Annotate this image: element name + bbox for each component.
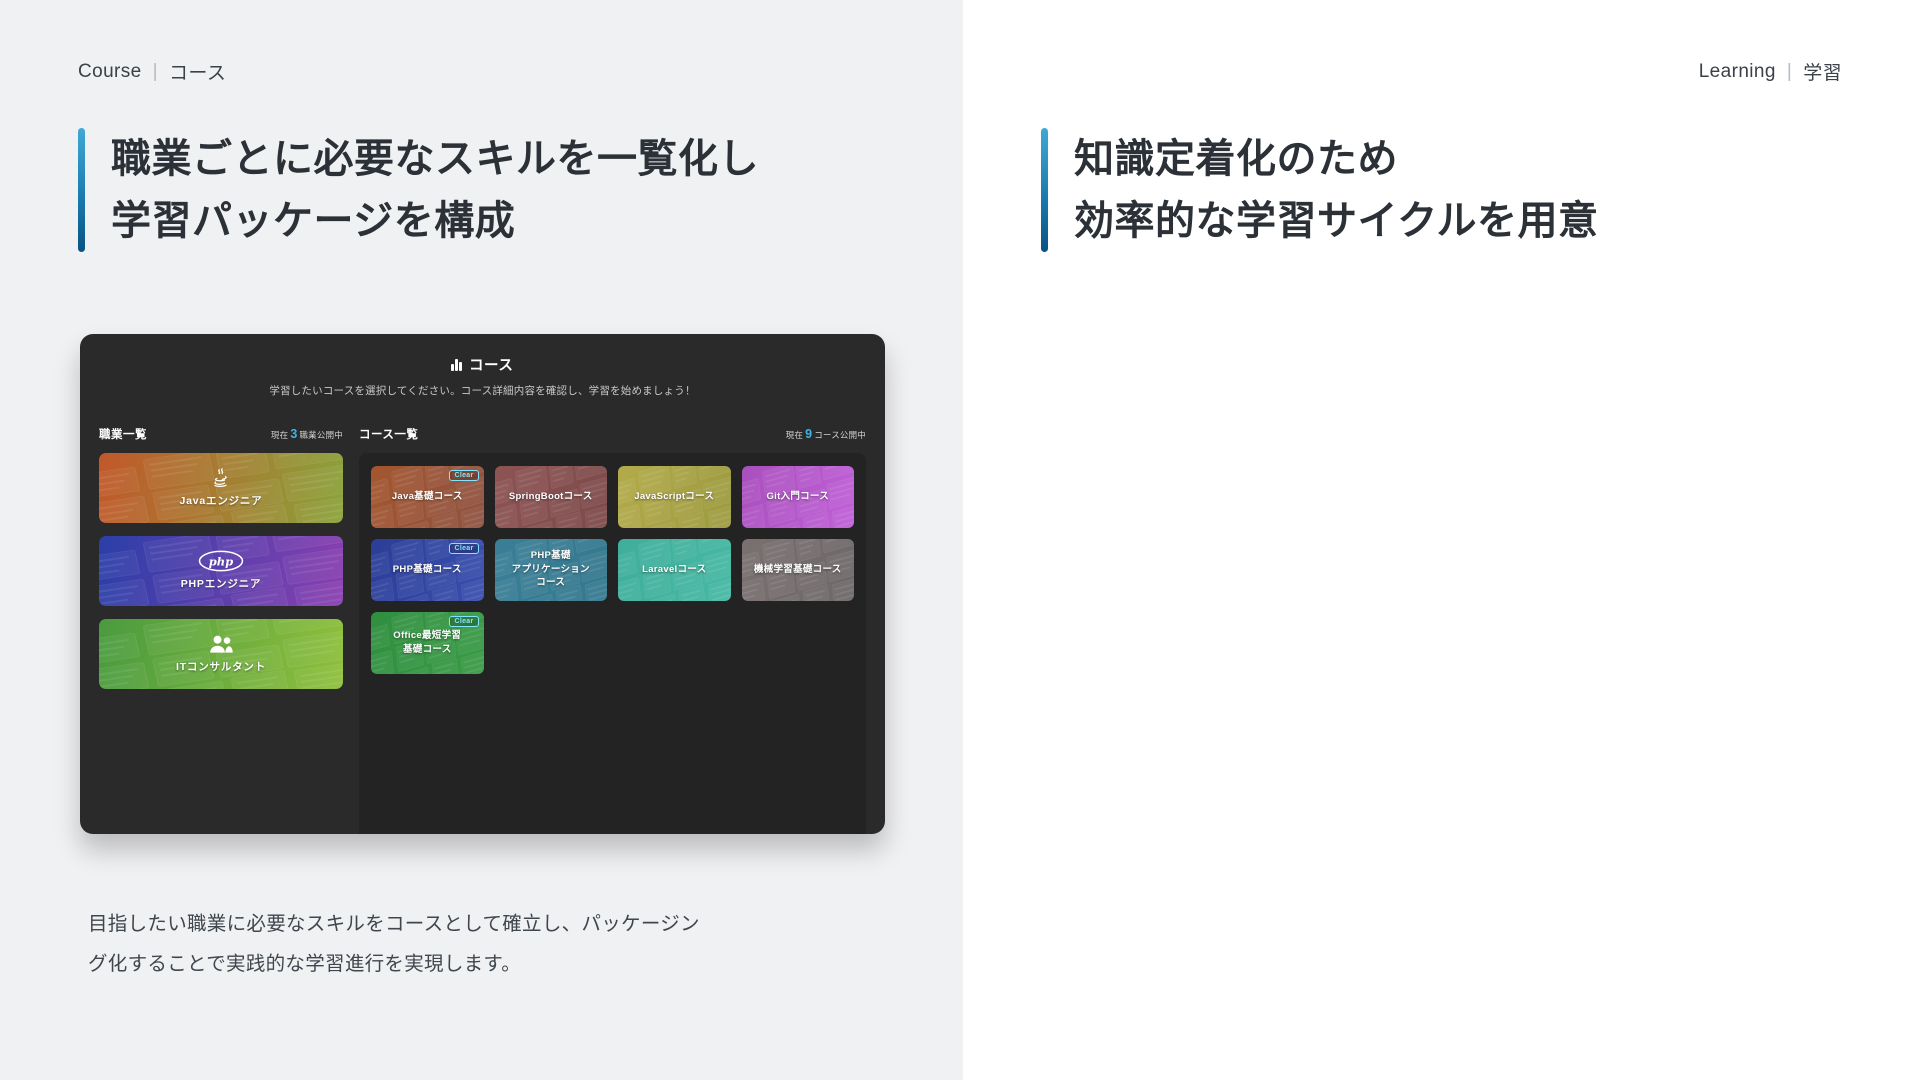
course-card-label: PHP基礎コース xyxy=(393,563,462,577)
php-icon: php xyxy=(198,550,244,572)
jobs-column-header: 職業一覧 現在3職業公開中 xyxy=(99,426,343,442)
left-headline-block: 職業ごとに必要なスキルを一覧化し 学習パッケージを構成 xyxy=(78,128,885,252)
clear-badge: Clear xyxy=(449,543,478,554)
course-card[interactable]: JavaScriptコース xyxy=(618,466,731,528)
left-eyebrow: Course | コース xyxy=(78,0,885,85)
clear-badge: Clear xyxy=(449,616,478,627)
right-headline-block: 知識定着化のため 効率的な学習サイクルを用意 xyxy=(1041,128,1842,252)
courses-count-prefix: 現在 xyxy=(786,430,803,440)
course-card[interactable]: 機械学習基礎コース xyxy=(742,539,855,601)
jobs-count-prefix: 現在 xyxy=(271,430,288,440)
courses-count-value: 9 xyxy=(803,427,814,441)
right-panel: Learning | 学習 知識定着化のため 効率的な学習サイクルを用意 xyxy=(963,0,1920,1080)
app-title: コース xyxy=(469,354,514,375)
course-card-label: Java基礎コース xyxy=(392,490,463,504)
left-caption: 目指したい職業に必要なスキルをコースとして確立し、パッケージン グ化することで実… xyxy=(88,905,700,985)
jobs-heading: 職業一覧 xyxy=(99,426,147,442)
course-card[interactable]: PHP基礎アプリケーションコース xyxy=(495,539,608,601)
right-eyebrow-separator: | xyxy=(1787,61,1792,83)
right-accent-bar xyxy=(1041,128,1048,252)
job-card-label: Javaエンジニア xyxy=(179,493,262,508)
course-card[interactable]: Laravelコース xyxy=(618,539,731,601)
course-card-label: 機械学習基礎コース xyxy=(754,563,842,577)
right-headline-line2: 効率的な学習サイクルを用意 xyxy=(1074,190,1599,252)
left-eyebrow-separator: | xyxy=(153,61,158,83)
clear-badge: Clear xyxy=(449,470,478,481)
slide: Course | コース 職業ごとに必要なスキルを一覧化し 学習パッケージを構成… xyxy=(0,0,1920,1080)
course-card[interactable]: ClearOffice最短学習基礎コース xyxy=(371,612,484,674)
left-headline: 職業ごとに必要なスキルを一覧化し 学習パッケージを構成 xyxy=(111,128,759,252)
jobs-count-suffix: 職業公開中 xyxy=(299,430,343,440)
app-header: コース 学習したいコースを選択してください。コース詳細内容を確認し、学習を始めま… xyxy=(80,334,885,412)
jobs-count: 現在3職業公開中 xyxy=(271,427,343,441)
right-eyebrow: Learning | 学習 xyxy=(1041,0,1842,85)
left-caption-line2: グ化することで実践的な学習進行を実現します。 xyxy=(88,945,700,985)
course-card-label: Laravelコース xyxy=(642,563,706,577)
right-headline: 知識定着化のため 効率的な学習サイクルを用意 xyxy=(1074,128,1599,252)
left-accent-bar xyxy=(78,128,85,252)
course-app-screenshot[interactable]: コース 学習したいコースを選択してください。コース詳細内容を確認し、学習を始めま… xyxy=(80,334,885,834)
courses-grid: ClearJava基礎コースSpringBootコースJavaScriptコース… xyxy=(371,466,854,674)
job-card[interactable]: phpPHPエンジニア xyxy=(99,536,343,606)
job-card[interactable]: ITコンサルタント xyxy=(99,619,343,689)
right-headline-line1: 知識定着化のため xyxy=(1074,128,1599,190)
java-icon xyxy=(210,467,232,489)
app-title-row: コース xyxy=(451,354,513,375)
courses-column-header: コース一覧 現在9コース公開中 xyxy=(359,426,866,442)
right-eyebrow-en: Learning xyxy=(1699,61,1776,83)
left-eyebrow-jp: コース xyxy=(169,58,226,85)
course-card[interactable]: SpringBootコース xyxy=(495,466,608,528)
app-subtitle: 学習したいコースを選択してください。コース詳細内容を確認し、学習を始めましょう！ xyxy=(80,383,885,398)
left-eyebrow-en: Course xyxy=(78,61,142,83)
job-card-label: ITコンサルタント xyxy=(176,659,266,674)
course-card-label: SpringBootコース xyxy=(509,490,593,504)
course-card-label: JavaScriptコース xyxy=(634,490,714,504)
courses-count-suffix: コース公開中 xyxy=(814,430,866,440)
app-body: 職業一覧 現在3職業公開中 JavaエンジニアphpPHPエンジニアITコンサル… xyxy=(80,412,885,835)
left-headline-line1: 職業ごとに必要なスキルを一覧化し xyxy=(111,128,759,190)
svg-text:php: php xyxy=(209,555,233,569)
job-card-label: PHPエンジニア xyxy=(181,576,262,591)
course-card[interactable]: ClearPHP基礎コース xyxy=(371,539,484,601)
jobs-count-value: 3 xyxy=(288,427,299,441)
left-headline-line2: 学習パッケージを構成 xyxy=(111,190,759,252)
course-card-label: Git入門コース xyxy=(766,490,829,504)
people-icon xyxy=(208,633,234,655)
jobs-card-list: JavaエンジニアphpPHPエンジニアITコンサルタント xyxy=(99,453,343,689)
course-card-label: Office最短学習基礎コース xyxy=(393,629,461,657)
courses-panel: ClearJava基礎コースSpringBootコースJavaScriptコース… xyxy=(359,453,866,835)
left-caption-line1: 目指したい職業に必要なスキルをコースとして確立し、パッケージン xyxy=(88,905,700,945)
courses-heading: コース一覧 xyxy=(359,426,418,442)
left-panel: Course | コース 職業ごとに必要なスキルを一覧化し 学習パッケージを構成… xyxy=(0,0,963,1080)
courses-count: 現在9コース公開中 xyxy=(786,427,866,441)
bar-chart-icon xyxy=(451,359,462,371)
course-card[interactable]: ClearJava基礎コース xyxy=(371,466,484,528)
right-eyebrow-jp: 学習 xyxy=(1803,58,1842,85)
jobs-column: 職業一覧 現在3職業公開中 JavaエンジニアphpPHPエンジニアITコンサル… xyxy=(99,426,343,835)
course-card-label: PHP基礎アプリケーションコース xyxy=(512,549,590,590)
course-card[interactable]: Git入門コース xyxy=(742,466,855,528)
job-card[interactable]: Javaエンジニア xyxy=(99,453,343,523)
courses-column: コース一覧 現在9コース公開中 ClearJava基礎コースSpringBoot… xyxy=(359,426,866,835)
